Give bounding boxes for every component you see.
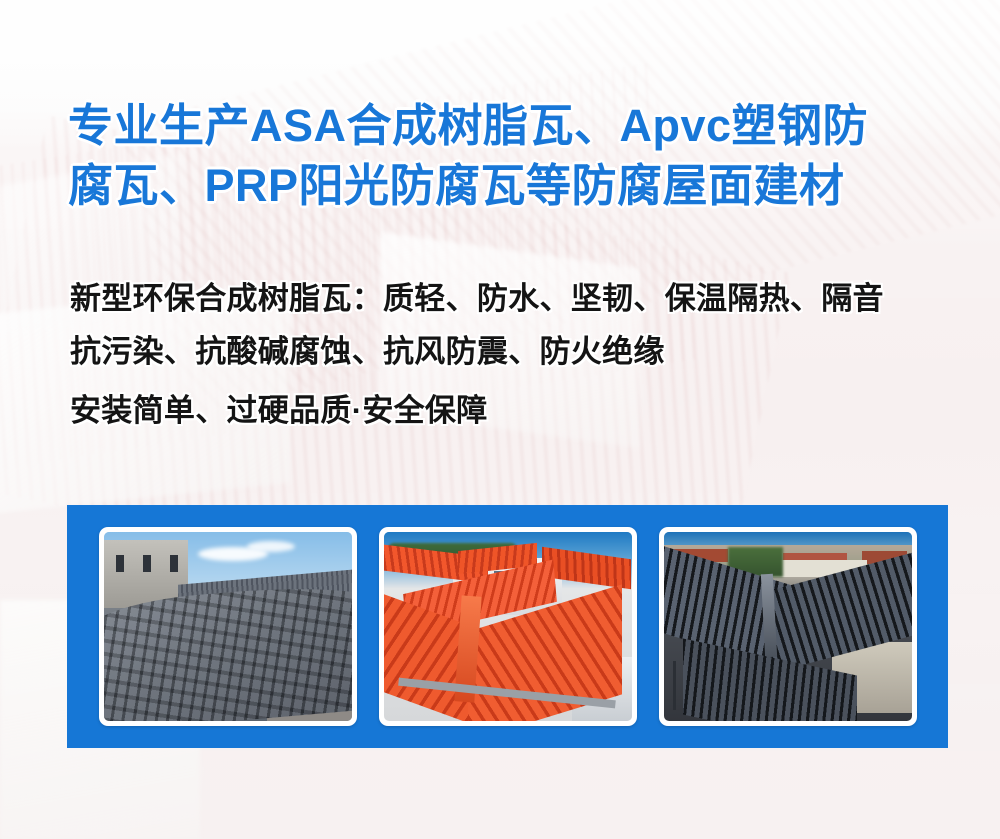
photo-grey-resin-tile-roof [104, 532, 352, 721]
subtitle-line-2: 抗污染、抗酸碱腐蚀、抗风防震、防火绝缘 [70, 325, 950, 378]
photo1-window-1 [116, 555, 124, 572]
headline-line-1: 专业生产ASA合成树脂瓦、Apvc塑钢防 [68, 96, 948, 156]
gallery-card-3[interactable] [659, 527, 917, 726]
photo-black-resin-tile-roof [664, 532, 912, 721]
headline: 专业生产ASA合成树脂瓦、Apvc塑钢防 腐瓦、PRP阳光防腐瓦等防腐屋面建材 [68, 96, 948, 216]
gallery-card-2[interactable] [379, 527, 637, 726]
photo-red-resin-tile-roof [384, 532, 632, 721]
subtitle-line-3: 安装简单、过硬品质·安全保障 [70, 384, 950, 437]
photo1-window-3 [170, 555, 178, 572]
subtitle-line-1: 新型环保合成树脂瓦：质轻、防水、坚韧、保温隔热、隔音 [70, 272, 950, 325]
gallery-card-1[interactable] [99, 527, 357, 726]
product-banner: 专业生产ASA合成树脂瓦、Apvc塑钢防 腐瓦、PRP阳光防腐瓦等防腐屋面建材 … [0, 0, 1000, 839]
subtitle-feature-list: 新型环保合成树脂瓦：质轻、防水、坚韧、保温隔热、隔音 抗污染、抗酸碱腐蚀、抗风防… [70, 272, 950, 437]
headline-line-2: 腐瓦、PRP阳光防腐瓦等防腐屋面建材 [68, 156, 948, 216]
gallery-panel [67, 505, 948, 748]
photo1-window-2 [143, 555, 151, 572]
